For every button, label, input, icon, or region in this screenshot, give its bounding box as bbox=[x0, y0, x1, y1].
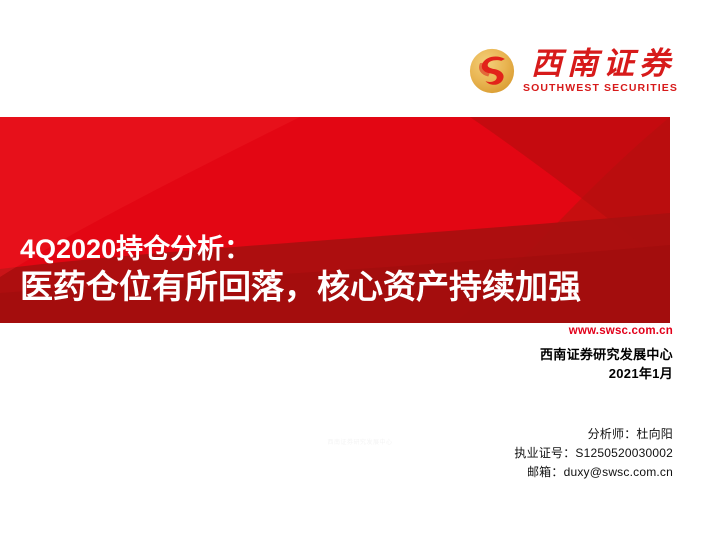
brand-logo: 西南证券 SOUTHWEST SECURITIES bbox=[469, 48, 678, 94]
department-name: 西南证券研究发展中心 bbox=[540, 346, 673, 365]
department-block: 西南证券研究发展中心 2021年1月 bbox=[540, 346, 673, 384]
brand-name-en: SOUTHWEST SECURITIES bbox=[523, 83, 678, 94]
title-line-1: 4Q2020持仓分析： bbox=[20, 234, 581, 266]
analyst-name: 分析师：杜向阳 bbox=[514, 425, 673, 444]
title-slide: 西南证券 SOUTHWEST SECURITIES 4Q2020持仓分析： 医药… bbox=[0, 0, 720, 540]
title-banner: 4Q2020持仓分析： 医药仓位有所回落，核心资产持续加强 bbox=[0, 117, 670, 323]
swsc-swirl-logo-icon bbox=[469, 48, 515, 94]
banner-title-group: 4Q2020持仓分析： 医药仓位有所回落，核心资产持续加强 bbox=[20, 234, 581, 307]
title-line-2: 医药仓位有所回落，核心资产持续加强 bbox=[20, 267, 581, 307]
website-url[interactable]: www.swsc.com.cn bbox=[569, 325, 673, 337]
analyst-email: 邮箱：duxy@swsc.com.cn bbox=[514, 463, 673, 482]
brand-name-cn: 西南证券 bbox=[531, 48, 675, 79]
report-date: 2021年1月 bbox=[540, 365, 673, 384]
page-watermark: 西南证券研究发展中心 bbox=[327, 437, 392, 446]
brand-wordmark: 西南证券 SOUTHWEST SECURITIES bbox=[523, 48, 678, 94]
analyst-license: 执业证号：S1250520030002 bbox=[514, 444, 673, 463]
analyst-info-block: 分析师：杜向阳 执业证号：S1250520030002 邮箱：duxy@swsc… bbox=[514, 425, 673, 482]
